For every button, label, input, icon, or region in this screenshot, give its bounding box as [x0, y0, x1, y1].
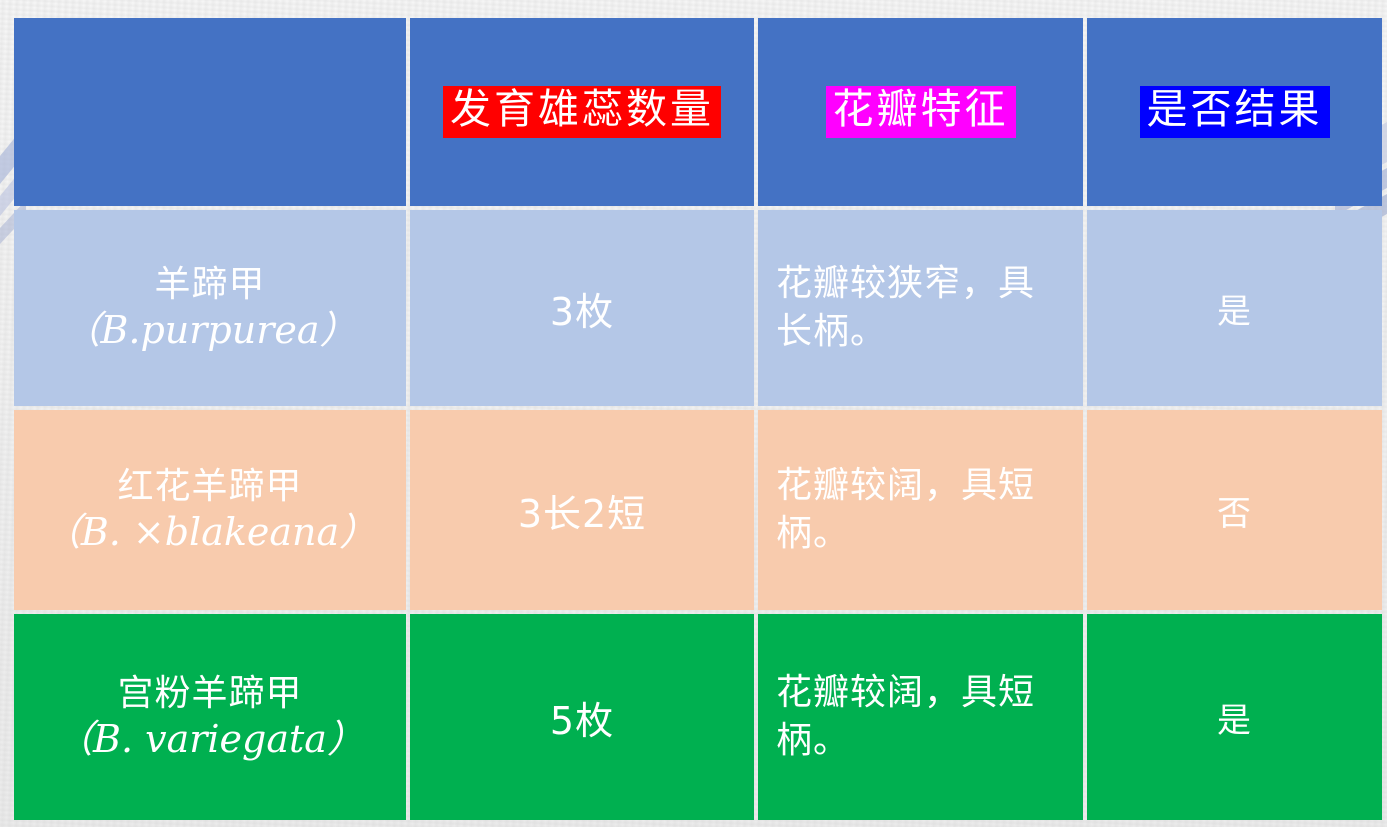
cell-species: 羊蹄甲 （B.purpurea） — [14, 210, 406, 406]
table-header-row: 发育雄蕊数量 花瓣特征 是否结果 — [14, 18, 1382, 206]
slide-canvas: 发育雄蕊数量 花瓣特征 是否结果 羊蹄甲 （B.purpurea） — [0, 0, 1387, 827]
cell-species: 宫粉羊蹄甲 （B. variegata） — [14, 614, 406, 820]
stamen-count-value: 3枚 — [550, 290, 614, 334]
species-name: 宫粉羊蹄甲 （B. variegata） — [14, 672, 406, 762]
species-name-chinese: 羊蹄甲 — [14, 263, 406, 307]
petal-feature-value: 花瓣较阔，具短柄。 — [758, 669, 1083, 764]
comparison-table-container: 发育雄蕊数量 花瓣特征 是否结果 羊蹄甲 （B.purpurea） — [10, 14, 1366, 812]
cell-species: 红花羊蹄甲 （B. ×blakeana） — [14, 410, 406, 610]
cell-stamen-count: 3长2短 — [410, 410, 754, 610]
cell-stamen-count: 5枚 — [410, 614, 754, 820]
stamen-count-value: 3长2短 — [518, 492, 646, 536]
header-cell-fruiting[interactable]: 是否结果 — [1087, 18, 1382, 206]
stamen-count-value: 5枚 — [550, 699, 614, 743]
cell-fruiting: 否 — [1087, 410, 1382, 610]
header-cell-species — [14, 18, 406, 206]
fruiting-value: 否 — [1217, 494, 1252, 534]
species-name-chinese: 红花羊蹄甲 — [14, 465, 406, 509]
cell-petal-feature: 花瓣较阔，具短柄。 — [758, 614, 1083, 820]
header-cell-stamen-count[interactable]: 发育雄蕊数量 — [410, 18, 754, 206]
bauhinia-comparison-table: 发育雄蕊数量 花瓣特征 是否结果 羊蹄甲 （B.purpurea） — [10, 14, 1386, 824]
fruiting-value: 是 — [1217, 292, 1252, 332]
cell-fruiting: 是 — [1087, 614, 1382, 820]
table-row: 红花羊蹄甲 （B. ×blakeana） 3长2短 花瓣较阔，具短柄。 否 — [14, 410, 1382, 610]
cell-stamen-count: 3枚 — [410, 210, 754, 406]
petal-feature-value: 花瓣较狭窄，具长柄。 — [758, 260, 1083, 355]
header-label-stamen-count: 发育雄蕊数量 — [443, 86, 721, 137]
header-cell-petal-feature[interactable]: 花瓣特征 — [758, 18, 1083, 206]
header-label-petal-feature: 花瓣特征 — [826, 86, 1016, 137]
fruiting-value: 是 — [1217, 701, 1252, 741]
species-name-latin: （B. ×blakeana） — [14, 509, 406, 555]
cell-fruiting: 是 — [1087, 210, 1382, 406]
cell-petal-feature: 花瓣较阔，具短柄。 — [758, 410, 1083, 610]
table-row: 羊蹄甲 （B.purpurea） 3枚 花瓣较狭窄，具长柄。 是 — [14, 210, 1382, 406]
header-label-fruiting: 是否结果 — [1140, 86, 1330, 137]
table-row: 宫粉羊蹄甲 （B. variegata） 5枚 花瓣较阔，具短柄。 是 — [14, 614, 1382, 820]
petal-feature-value: 花瓣较阔，具短柄。 — [758, 462, 1083, 557]
species-name-latin: （B.purpurea） — [14, 307, 406, 353]
cell-petal-feature: 花瓣较狭窄，具长柄。 — [758, 210, 1083, 406]
species-name: 羊蹄甲 （B.purpurea） — [14, 263, 406, 353]
species-name: 红花羊蹄甲 （B. ×blakeana） — [14, 465, 406, 555]
species-name-latin: （B. variegata） — [14, 716, 406, 762]
species-name-chinese: 宫粉羊蹄甲 — [14, 672, 406, 716]
